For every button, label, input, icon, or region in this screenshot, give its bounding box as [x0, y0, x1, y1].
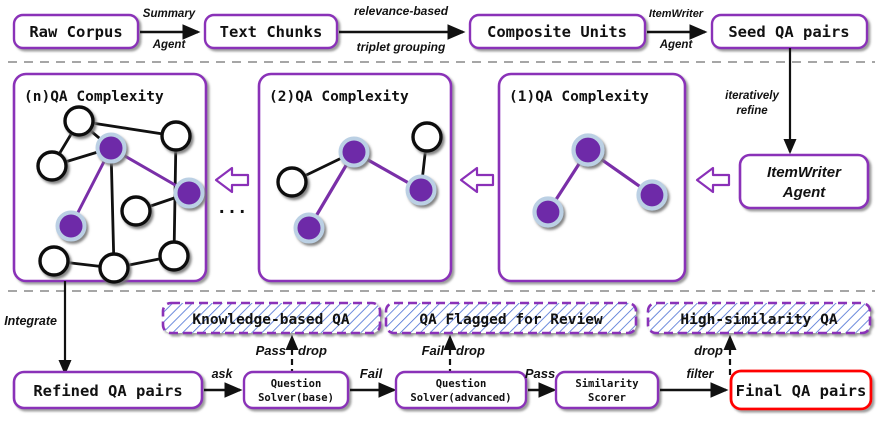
agent-label-line1: ItemWriter	[767, 164, 842, 181]
label-pass-2: Pass	[525, 366, 555, 381]
box-label: Composite Units	[487, 23, 627, 41]
box-label: Seed QA pairs	[728, 23, 849, 41]
hollow-arrow-agent-to-1	[697, 168, 729, 192]
hollow-arrow-1-to-2	[461, 168, 493, 192]
label-drop-3: drop	[694, 343, 723, 358]
box-seed-qa-pairs[interactable]: Seed QA pairs	[712, 15, 867, 48]
box-label: (2)QA Complexity	[269, 89, 409, 105]
box-final-qa-pairs[interactable]: Final QA pairs	[731, 371, 871, 409]
ellipsis-label: ...	[217, 198, 248, 218]
box-label: Final QA pairs	[736, 382, 867, 400]
arrow-label-above: Summary	[143, 8, 196, 20]
box-qa-complexity-2[interactable]: (2)QA Complexity	[259, 74, 451, 281]
box-label: QA Flagged for Review	[419, 312, 603, 328]
label-fail-1: Fail	[360, 366, 383, 381]
box-label: High-similarity QA	[680, 312, 837, 328]
box-label: Text Chunks	[220, 23, 323, 41]
label-filter: filter	[686, 367, 714, 381]
box-composite-units[interactable]: Composite Units	[470, 15, 645, 48]
box-label: Knowledge-based QA	[192, 312, 349, 328]
arrow-label-below: Agent	[659, 39, 694, 51]
box-label: Refined QA pairs	[33, 382, 182, 400]
refine-label-line2: refine	[736, 105, 768, 117]
box-label: (n)QA Complexity	[24, 89, 164, 105]
box-refined-qa-pairs[interactable]: Refined QA pairs	[14, 372, 202, 408]
box-label-line2: Solver(base)	[258, 392, 334, 404]
box-label-line2: Solver(advanced)	[410, 392, 511, 404]
hollow-arrow-2-to-n	[216, 168, 248, 192]
box-qa-complexity-n[interactable]: (n)QA Complexity	[14, 74, 206, 282]
box-raw-corpus[interactable]: Raw Corpus	[14, 15, 138, 48]
top-row: Raw Corpus Text Chunks Composite Units S…	[14, 4, 867, 54]
label-pass-1: Pass	[256, 343, 286, 358]
box-high-similarity-qa[interactable]: High-similarity QA	[648, 303, 870, 333]
box-question-solver-base[interactable]: Question Solver(base)	[244, 372, 348, 408]
arrow-label-above: ItemWriter	[649, 8, 704, 20]
box-label: Raw Corpus	[29, 23, 122, 41]
integrate-label: Integrate	[4, 314, 57, 328]
arrow-label-above: relevance-based	[354, 4, 449, 18]
box-knowledge-based-qa[interactable]: Knowledge-based QA	[163, 303, 380, 333]
label-ask: ask	[212, 367, 234, 381]
box-itemwriter-agent[interactable]: ItemWriter Agent	[740, 155, 868, 208]
label-drop-2: drop	[456, 343, 485, 358]
bottom-row: Integrate Knowledge-based QA QA Flagged …	[4, 281, 871, 409]
diagram-canvas: Raw Corpus Text Chunks Composite Units S…	[0, 0, 883, 426]
box-label-line2: Scorer	[588, 392, 626, 404]
box-label-line1: Similarity	[575, 378, 639, 390]
arrow-label-below: Agent	[152, 39, 187, 51]
agent-label-line2: Agent	[782, 184, 827, 201]
box-label-line1: Question	[436, 378, 487, 390]
box-label: (1)QA Complexity	[509, 89, 649, 105]
refine-label-line1: iteratively	[725, 90, 779, 102]
arrow-label-below: triplet grouping	[357, 40, 446, 54]
box-qa-flagged-review[interactable]: QA Flagged for Review	[386, 303, 636, 333]
box-qa-complexity-1[interactable]: (1)QA Complexity	[499, 74, 685, 281]
box-question-solver-advanced[interactable]: Question Solver(advanced)	[396, 372, 526, 408]
box-label-line1: Question	[271, 378, 322, 390]
label-drop-1: drop	[298, 343, 327, 358]
box-similarity-scorer[interactable]: Similarity Scorer	[556, 372, 658, 408]
label-fail-2: Fail	[422, 343, 445, 358]
diagram-root: Raw Corpus Text Chunks Composite Units S…	[0, 0, 883, 426]
box-text-chunks[interactable]: Text Chunks	[205, 15, 337, 48]
